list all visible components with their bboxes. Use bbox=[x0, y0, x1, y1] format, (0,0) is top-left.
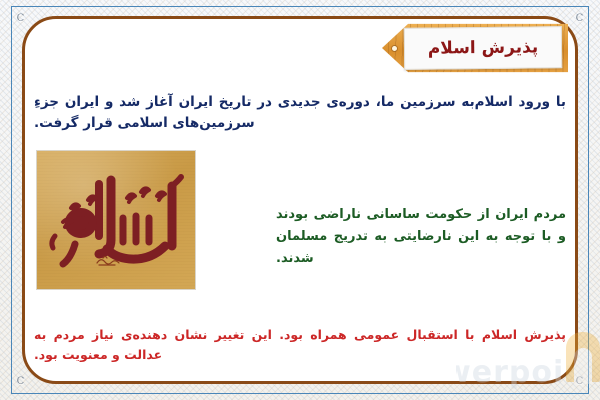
slide-canvas: C C C C mihanpowerpoint پذیرش اسلام با و… bbox=[0, 0, 600, 400]
paragraph-middle: مردم ایران از حکومت ساسانی ناراضی بودند … bbox=[276, 204, 566, 270]
corner-mark-top-right: C bbox=[573, 12, 586, 25]
title-sign-label: پذیرش اسلام bbox=[404, 26, 562, 70]
paragraph-intro: با ورود اسلام‌به سرزمین ما، دوره‌ی جدیدی… bbox=[34, 92, 566, 134]
title-sign: پذیرش اسلام bbox=[382, 20, 568, 76]
artist-seal-icon bbox=[95, 254, 121, 267]
calligraphy-artwork-icon bbox=[37, 151, 195, 289]
corner-mark-bottom-right: C bbox=[573, 375, 586, 388]
slide-content: پذیرش اسلام با ورود اسلام‌به سرزمین ما، … bbox=[26, 20, 574, 380]
paragraph-closing: پذیرش اسلام با استقبال عمومی همراه بود. … bbox=[34, 325, 566, 366]
page-title: پذیرش اسلام bbox=[428, 37, 539, 58]
calligraphy-image bbox=[36, 150, 196, 290]
